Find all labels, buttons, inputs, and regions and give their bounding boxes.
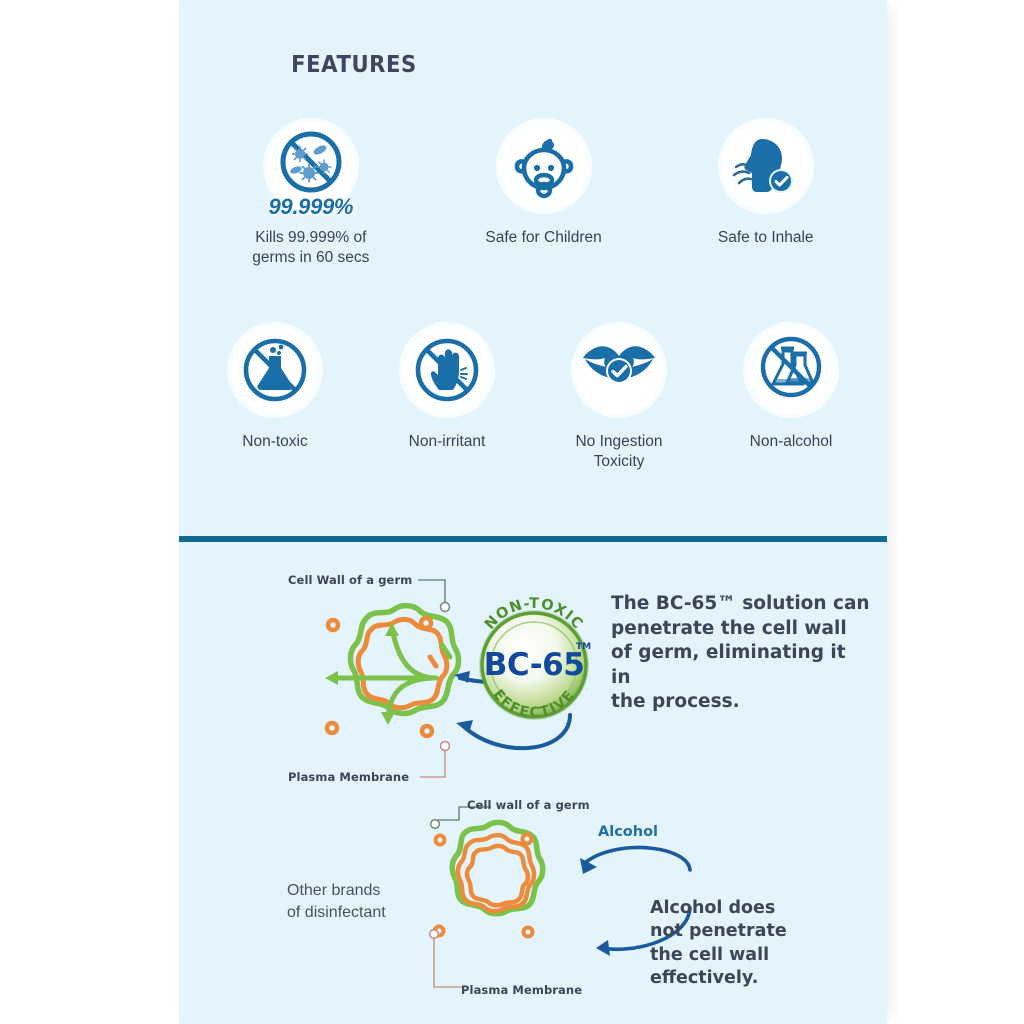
feature-label: Non-toxic [242,432,307,452]
features-row-2: Non-toxic [179,322,887,472]
no-germs-icon: 99.999% [263,118,359,214]
feature-non-alcohol[interactable]: Non-alcohol [743,322,839,472]
feature-safe-to-inhale[interactable]: Safe to Inhale [718,118,814,268]
no-irritant-hand-icon [399,322,495,418]
feature-label: Non-alcohol [750,432,833,452]
svg-text:TM: TM [576,642,591,652]
feature-label: Safe for Children [485,228,601,248]
no-alcohol-flasks-icon [743,322,839,418]
feature-label: Kills 99.999% of germs in 60 secs [252,228,369,268]
germ-penetration-diagram: NON-TOXIC EFFECTIVE BC-65 TM Cell Wall o… [270,565,610,795]
feature-non-irritant[interactable]: Non-irritant [399,322,495,472]
other-brands-label: Other brands of disinfectant [287,880,437,923]
bc65-badge: NON-TOXIC EFFECTIVE BC-65 TM [479,596,591,721]
feature-safe-for-children[interactable]: Safe for Children [485,118,601,268]
svg-text:BC-65: BC-65 [484,647,585,683]
baby-face-icon [496,118,592,214]
no-toxic-flask-icon [227,322,323,418]
plasma-membrane-label-top: Plasma Membrane [288,770,409,784]
cell-wall-label-top: Cell Wall of a germ [288,573,412,587]
alcohol-description-paragraph: Alcohol does not penetrate the cell wall… [650,897,850,990]
germ-cell-penetrated-graphic: NON-TOXIC EFFECTIVE BC-65 TM [270,565,610,795]
features-heading: FEATURES [28,52,679,78]
features-row-1: 99.999% Kills 99.999% of germs in 60 sec… [179,118,887,268]
feature-non-toxic[interactable]: Non-toxic [227,322,323,472]
page-root: FEATURES [0,0,1024,1024]
plasma-membrane-label-bottom: Plasma Membrane [461,983,582,997]
feature-label: Safe to Inhale [718,228,814,248]
feature-label: No Ingestion Toxicity [575,432,662,472]
feature-label: Non-irritant [409,432,486,452]
cell-wall-label-bottom: Cell wall of a germ [467,798,590,812]
head-breathing-check-icon [718,118,814,214]
bc65-description-paragraph: The BC-65™ solution can penetrate the ce… [611,592,871,715]
feature-kills-germs[interactable]: 99.999% Kills 99.999% of germs in 60 sec… [252,118,369,268]
alcohol-label: Alcohol [598,824,658,840]
kill-rate-badge: 99.999% [268,194,353,220]
section-divider [179,536,887,542]
feature-no-ingestion-toxicity[interactable]: No Ingestion Toxicity [571,322,667,472]
lips-check-icon [571,322,667,418]
